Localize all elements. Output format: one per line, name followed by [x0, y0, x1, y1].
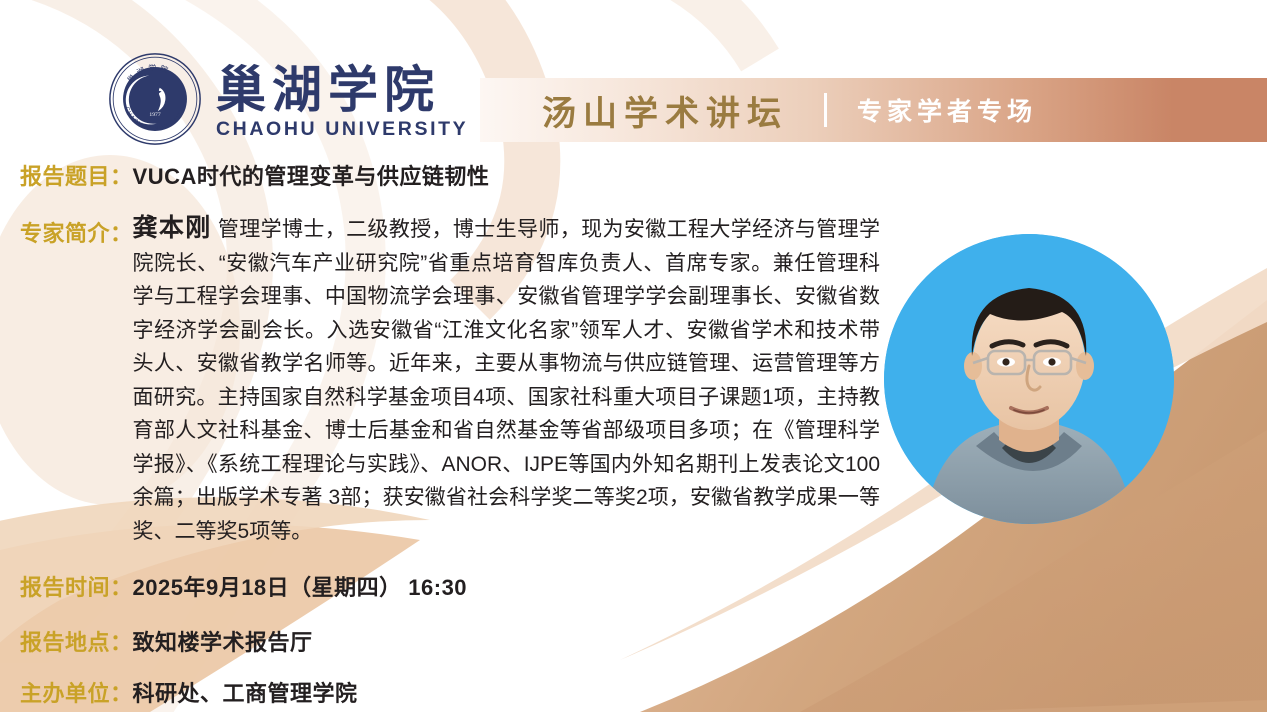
- report-host-label: 主办单位：: [20, 676, 133, 708]
- report-place-row: 报告地点： 致知楼学术报告厅: [20, 625, 313, 657]
- speaker-bio-row: 专家简介： 龚本刚 管理学博士，二级教授，博士生导师，现为安徽工程大学经济与管理…: [20, 212, 880, 548]
- speaker-bio-label: 专家简介：: [20, 212, 133, 248]
- university-name-en: CHAOHU UNIVERSITY: [216, 119, 468, 140]
- banner-divider: [824, 93, 827, 127]
- report-place-value: 致知楼学术报告厅: [133, 625, 313, 657]
- chaohu-university-emblem-icon: 1977 巢湖学院 CHAOHU UNIVERSITY: [108, 52, 202, 146]
- report-place-label: 报告地点：: [20, 625, 133, 657]
- forum-banner: 汤山学术讲坛 专家学者专场: [480, 78, 1267, 142]
- speaker-bio-text: 管理学博士，二级教授，博士生导师，现为安徽工程大学经济与管理学院院长、“安徽汽车…: [133, 218, 880, 543]
- poster-canvas: 1977 巢湖学院 CHAOHU UNIVERSITY 巢湖学院 CHAOHU …: [0, 0, 1267, 712]
- report-time-label: 报告时间：: [20, 570, 133, 602]
- banner-sub-title: 专家学者专场: [857, 92, 1037, 128]
- report-host-row: 主办单位： 科研处、工商管理学院: [20, 676, 358, 708]
- report-time-value: 2025年9月18日（星期四） 16:30: [133, 570, 468, 602]
- report-title-value: VUCA时代的管理变革与供应链韧性: [133, 159, 490, 191]
- university-name-cn: 巢湖学院: [216, 64, 468, 116]
- report-title-row: 报告题目： VUCA时代的管理变革与供应链韧性: [20, 159, 489, 191]
- report-title-label: 报告题目：: [20, 159, 133, 191]
- speaker-portrait: [884, 234, 1174, 524]
- speaker-name: 龚本刚: [133, 214, 212, 242]
- banner-main-title: 汤山学术讲坛: [542, 86, 788, 135]
- report-host-value: 科研处、工商管理学院: [133, 676, 358, 708]
- portrait-photo: [884, 234, 1174, 524]
- report-time-row: 报告时间： 2025年9月18日（星期四） 16:30: [20, 570, 467, 602]
- speaker-bio-body: 龚本刚 管理学博士，二级教授，博士生导师，现为安徽工程大学经济与管理学院院长、“…: [133, 212, 880, 548]
- svg-text:1977: 1977: [149, 112, 160, 118]
- university-logo: 1977 巢湖学院 CHAOHU UNIVERSITY 巢湖学院 CHAOHU …: [108, 52, 468, 146]
